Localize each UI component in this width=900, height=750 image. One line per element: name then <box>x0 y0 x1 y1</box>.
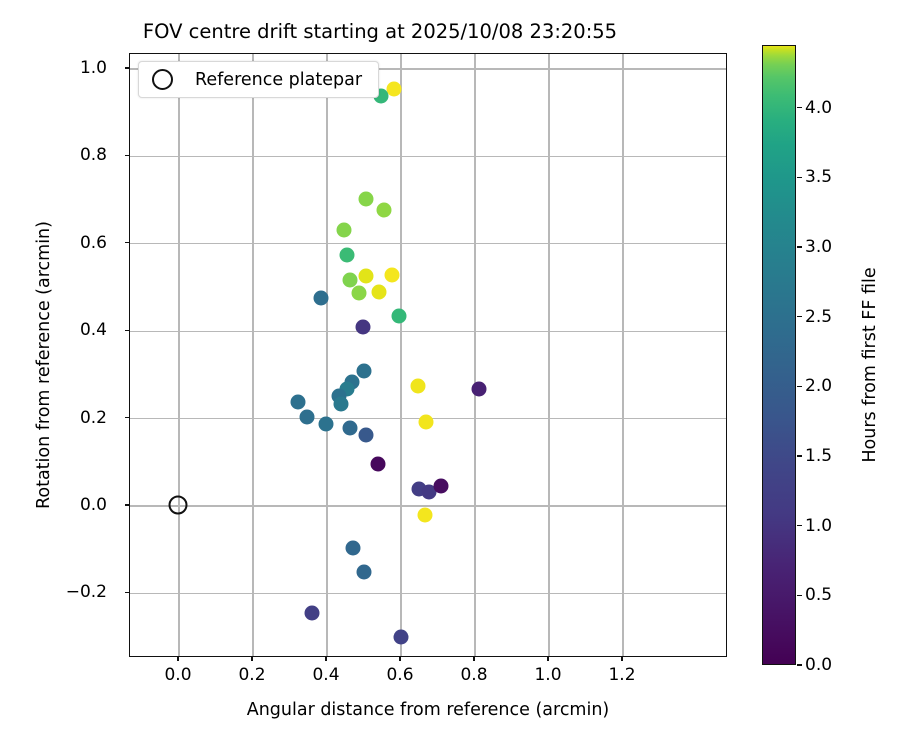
plot-area <box>129 53 727 657</box>
colorbar-gradient <box>762 45 796 665</box>
chart-title: FOV centre drift starting at 2025/10/08 … <box>0 20 760 43</box>
gridline-vertical <box>178 54 179 656</box>
gridline-horizontal <box>130 331 726 332</box>
x-tick-label: 1.2 <box>608 665 635 685</box>
colorbar-tick-label: 0.0 <box>805 655 832 675</box>
gridline-horizontal <box>130 593 726 594</box>
scatter-point <box>334 397 349 412</box>
colorbar-tick-label: 1.5 <box>805 446 832 466</box>
y-axis-label: Rotation from reference (arcmin) <box>34 45 54 685</box>
reference-platepar-marker <box>169 496 188 515</box>
colorbar-tick <box>797 246 802 247</box>
gridline-horizontal <box>130 156 726 157</box>
x-tick <box>399 657 400 661</box>
colorbar-tick <box>797 386 802 387</box>
scatter-point <box>386 81 401 96</box>
scatter-point <box>352 285 367 300</box>
scatter-point <box>358 191 373 206</box>
scatter-point <box>356 320 371 335</box>
legend-label-reference-platepar: Reference platepar <box>195 70 362 90</box>
x-tick-label: 0.2 <box>238 665 265 685</box>
gridline-vertical <box>400 54 401 656</box>
scatter-point <box>419 414 434 429</box>
x-tick-label: 0.4 <box>312 665 339 685</box>
scatter-point <box>384 268 399 283</box>
x-tick <box>547 657 548 661</box>
scatter-point <box>342 421 357 436</box>
y-tick-label: 0.8 <box>80 145 107 165</box>
colorbar-tick <box>797 664 802 665</box>
scatter-point <box>433 479 448 494</box>
y-tick <box>125 504 129 505</box>
y-tick-label: −0.2 <box>66 582 107 602</box>
colorbar-tick-label: 0.5 <box>805 585 832 605</box>
gridline-horizontal <box>130 243 726 244</box>
scatter-point <box>305 606 320 621</box>
colorbar-tick-label: 2.5 <box>805 307 832 327</box>
y-tick <box>125 417 129 418</box>
gridline-horizontal <box>130 505 726 506</box>
y-tick-label: 0.2 <box>80 408 107 428</box>
scatter-point <box>357 363 372 378</box>
scatter-point <box>358 268 373 283</box>
scatter-point <box>357 564 372 579</box>
legend-open-circle-icon <box>152 69 173 90</box>
gridline-vertical <box>548 54 549 656</box>
colorbar-tick <box>797 107 802 108</box>
x-tick <box>473 657 474 661</box>
gridline-vertical <box>326 54 327 656</box>
colorbar-tick <box>797 525 802 526</box>
scatter-point <box>319 417 334 432</box>
scatter-point <box>314 290 329 305</box>
y-tick <box>125 155 129 156</box>
x-tick-label: 0.0 <box>164 665 191 685</box>
x-tick-label: 1.0 <box>534 665 561 685</box>
x-tick <box>325 657 326 661</box>
scatter-point <box>418 507 433 522</box>
y-tick-label: 1.0 <box>80 58 107 78</box>
x-tick <box>177 657 178 661</box>
colorbar-tick-label: 4.0 <box>805 98 832 118</box>
colorbar-tick-label: 2.0 <box>805 376 832 396</box>
gridline-vertical <box>252 54 253 656</box>
colorbar-tick-label: 3.0 <box>805 237 832 257</box>
y-tick <box>125 67 129 68</box>
figure-canvas: FOV centre drift starting at 2025/10/08 … <box>0 0 900 750</box>
scatter-point <box>370 457 385 472</box>
x-tick <box>621 657 622 661</box>
scatter-point <box>340 247 355 262</box>
y-tick <box>125 330 129 331</box>
y-tick-label: 0.6 <box>80 233 107 253</box>
legend: Reference platepar <box>138 61 379 98</box>
scatter-point <box>471 381 486 396</box>
scatter-point <box>345 541 360 556</box>
scatter-point <box>336 222 351 237</box>
scatter-point <box>377 202 392 217</box>
colorbar-tick <box>797 455 802 456</box>
gridline-vertical <box>622 54 623 656</box>
x-axis-label: Angular distance from reference (arcmin) <box>129 700 727 720</box>
colorbar-tick-label: 1.0 <box>805 516 832 536</box>
colorbar-tick <box>797 595 802 596</box>
colorbar-tick-label: 3.5 <box>805 167 832 187</box>
x-tick-label: 0.8 <box>460 665 487 685</box>
colorbar-label: Hours from first FF file <box>860 115 880 615</box>
scatter-point <box>392 308 407 323</box>
y-tick <box>125 242 129 243</box>
x-tick <box>251 657 252 661</box>
gridline-vertical <box>474 54 475 656</box>
y-tick-label: 0.4 <box>80 320 107 340</box>
colorbar-tick <box>797 177 802 178</box>
colorbar-tick <box>797 316 802 317</box>
y-tick-label: 0.0 <box>80 495 107 515</box>
x-tick-label: 0.6 <box>386 665 413 685</box>
scatter-point <box>371 284 386 299</box>
scatter-point <box>394 630 409 645</box>
scatter-point <box>299 410 314 425</box>
y-tick <box>125 592 129 593</box>
scatter-point <box>291 395 306 410</box>
scatter-point <box>358 427 373 442</box>
scatter-point <box>410 379 425 394</box>
